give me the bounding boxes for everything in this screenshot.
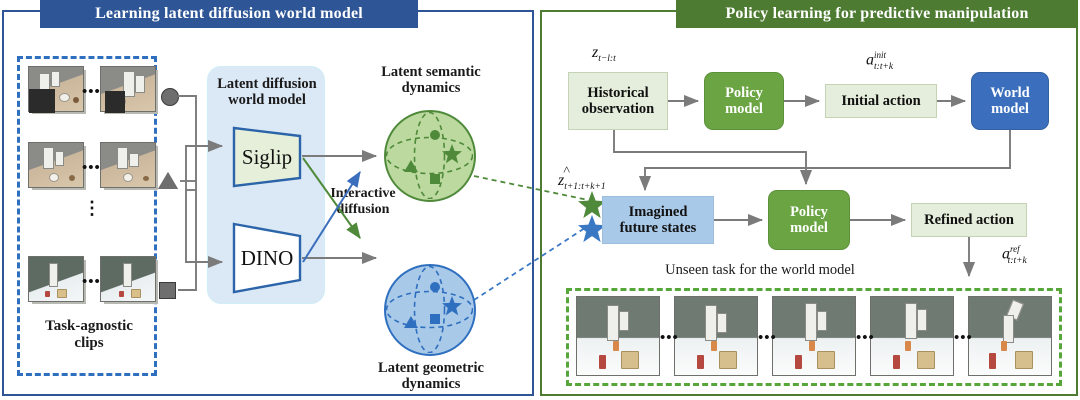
unseen-frames-ellipsis: ••• (856, 330, 875, 347)
semantic-square-point (430, 174, 440, 184)
clip-ellipsis: ••• (82, 160, 101, 177)
latent-semantic-dynamics-label: Latent semantic dynamics (372, 64, 490, 96)
historical-observation-box[interactable]: Historical observation (568, 72, 668, 130)
initial-action-box[interactable]: Initial action (825, 84, 937, 118)
siglip-label: Siglip (228, 126, 306, 188)
historical-observation-line1: Historical (587, 85, 648, 101)
latent-semantic-sphere (384, 110, 476, 202)
diagram-canvas: Learning latent diffusion world model ••… (0, 0, 1080, 400)
policy-model-top-line1: Policy (725, 85, 763, 101)
policy-model-bottom-line2: model (790, 220, 828, 236)
a-ref-math: areft:t+k (1002, 244, 1027, 266)
world-model-box[interactable]: World model (971, 72, 1049, 130)
z-imagined-hat: ˄ (563, 162, 570, 178)
clips-label-line2: clips (74, 335, 103, 351)
policy-model-top-line2: model (725, 101, 763, 117)
clip-vertical-ellipsis: ⋮ (83, 206, 95, 211)
semantic-star-point (442, 144, 462, 164)
latent-geometric-dynamics-label: Latent geometric dynamics (368, 360, 494, 392)
clips-label-line1: Task-agnostic (45, 318, 133, 334)
refined-action-label: Refined action (924, 212, 1014, 228)
unseen-frame (968, 296, 1052, 376)
interactive-diffusion-line2: diffusion (337, 202, 390, 217)
world-model-line2: model (991, 101, 1029, 117)
policy-model-box-bottom[interactable]: Policy model (768, 190, 850, 250)
z-historical-math: zt−l:t (592, 44, 616, 64)
policy-model-box-top[interactable]: Policy model (704, 72, 784, 130)
geometric-circle-point (430, 282, 440, 292)
geometric-square-point (430, 314, 440, 324)
a-init-sup: init (874, 50, 886, 60)
ldwm-title-line2: world model (228, 92, 306, 108)
panel-right-title: Policy learning for predictive manipulat… (676, 0, 1078, 28)
unseen-task-caption-text: Unseen task for the world model (665, 262, 855, 278)
a-init-math: ainitt:t+k (866, 50, 893, 72)
clip-thumbnail (28, 66, 84, 112)
historical-observation-line2: observation (582, 101, 655, 117)
clip-thumbnail (100, 66, 156, 112)
unseen-frame (576, 296, 660, 376)
geometric-star-point (442, 296, 462, 316)
geometric-label-line2: dynamics (402, 376, 461, 392)
unseen-frame (870, 296, 954, 376)
dino-label: DINO (228, 222, 306, 294)
z-historical-sub: t−l:t (598, 54, 616, 64)
unseen-task-caption: Unseen task for the world model (600, 262, 920, 278)
panel-left-title: Learning latent diffusion world model (40, 0, 418, 28)
clip-ellipsis: ••• (82, 274, 101, 291)
task-agnostic-clips-label: Task-agnostic clips (24, 318, 154, 352)
semantic-circle-point (430, 130, 440, 140)
unseen-frames-ellipsis: ••• (660, 330, 679, 347)
unseen-frames-ellipsis: ••• (758, 330, 777, 347)
latent-geometric-sphere (384, 264, 476, 356)
imagined-line1: Imagined (629, 204, 688, 220)
semantic-triangle-point (404, 160, 418, 172)
z-imagined-math: ˄ zt+1:t+k+1 (558, 172, 606, 192)
a-ref-sup: ref (1010, 244, 1020, 254)
circle-marker (161, 88, 179, 106)
clip-thumbnail (100, 256, 156, 302)
triangle-marker (158, 172, 178, 189)
world-model-line1: World (990, 85, 1029, 101)
unseen-frame (772, 296, 856, 376)
ldwm-title-line1: Latent diffusion (217, 76, 317, 92)
semantic-label-line2: dynamics (402, 80, 461, 96)
a-init-var: a (866, 51, 874, 68)
initial-action-label: Initial action (841, 93, 920, 109)
refined-action-box[interactable]: Refined action (911, 203, 1027, 237)
unseen-frame (674, 296, 758, 376)
square-marker (159, 282, 176, 299)
clip-ellipsis: ••• (82, 84, 101, 101)
ldwm-title: Latent diffusion world model (203, 76, 331, 108)
dino-encoder: DINO (228, 222, 306, 294)
clip-thumbnail (28, 256, 84, 302)
unseen-frames-ellipsis: ••• (954, 330, 973, 347)
policy-model-bottom-line1: Policy (790, 204, 828, 220)
geometric-label-line1: Latent geometric (378, 360, 484, 376)
imagined-line2: future states (620, 220, 697, 236)
semantic-label-line1: Latent semantic (381, 64, 480, 80)
a-ref-sub: t:t+k (1008, 256, 1027, 266)
geometric-triangle-point (404, 316, 418, 328)
imagined-future-states-box[interactable]: Imagined future states (602, 196, 714, 244)
clip-thumbnail (100, 142, 156, 188)
a-init-sub: t:t+k (874, 62, 893, 72)
siglip-encoder: Siglip (228, 126, 306, 188)
clip-thumbnail (28, 142, 84, 188)
